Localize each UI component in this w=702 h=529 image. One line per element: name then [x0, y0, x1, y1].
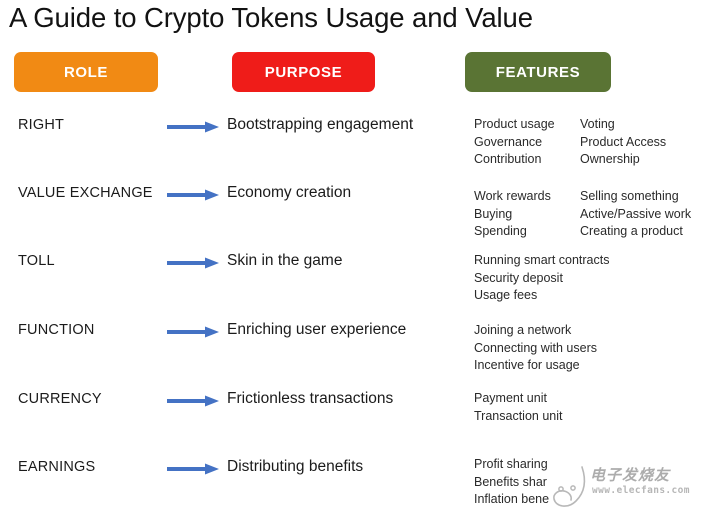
features-subcolumn: Product usage Governance Contribution [474, 116, 570, 169]
table-row: TOLL Skin in the game Running smart cont… [0, 253, 702, 323]
feature-item: Product usage [474, 116, 570, 134]
table-row: EARNINGS Distributing benefits Profit sh… [0, 459, 702, 529]
column-header-role: ROLE [14, 52, 158, 92]
feature-item: Payment unit [474, 390, 562, 408]
row-features-list: Running smart contracts Security deposit… [474, 252, 609, 305]
row-purpose-text: Frictionless transactions [227, 390, 393, 408]
feature-item: Transaction unit [474, 408, 562, 426]
features-subcolumn: Selling something Active/Passive work Cr… [580, 188, 691, 241]
feature-item: Governance [474, 134, 570, 152]
row-purpose-text: Distributing benefits [227, 458, 363, 476]
feature-item: Active/Passive work [580, 206, 691, 224]
features-subcolumn: Voting Product Access Ownership [580, 116, 666, 169]
feature-item: Selling something [580, 188, 691, 206]
features-subcolumn: Work rewards Buying Spending [474, 188, 570, 241]
arrow-right-icon [167, 188, 219, 202]
feature-item: Work rewards [474, 188, 570, 206]
features-subcolumn: Profit sharing Benefits shar Inflation b… [474, 456, 549, 509]
table-row: CURRENCY Frictionless transactions Payme… [0, 391, 702, 461]
row-purpose-text: Bootstrapping engagement [227, 116, 413, 134]
feature-item: Creating a product [580, 223, 691, 241]
feature-item: Ownership [580, 151, 666, 169]
feature-item: Joining a network [474, 322, 597, 340]
feature-item: Running smart contracts [474, 252, 609, 270]
row-features-list: Work rewards Buying Spending Selling som… [474, 188, 691, 241]
feature-item: Profit sharing [474, 456, 549, 474]
row-features-list: Payment unit Transaction unit [474, 390, 562, 425]
feature-item: Benefits shar [474, 474, 549, 492]
feature-item: Product Access [580, 134, 666, 152]
row-features-list: Profit sharing Benefits shar Inflation b… [474, 456, 549, 509]
feature-item: Usage fees [474, 287, 609, 305]
row-purpose-text: Enriching user experience [227, 321, 406, 339]
arrow-right-icon [167, 462, 219, 476]
features-subcolumn: Running smart contracts Security deposit… [474, 252, 609, 305]
column-header-features: FEATURES [465, 52, 611, 92]
arrow-right-icon [167, 325, 219, 339]
row-role-label: FUNCTION [18, 322, 95, 338]
features-subcolumn: Payment unit Transaction unit [474, 390, 562, 425]
row-purpose-text: Economy creation [227, 184, 351, 202]
row-role-label: EARNINGS [18, 459, 95, 475]
feature-item: Inflation bene [474, 491, 549, 509]
feature-item: Contribution [474, 151, 570, 169]
arrow-right-icon [167, 394, 219, 408]
table-row: VALUE EXCHANGE Economy creation Work rew… [0, 185, 702, 255]
feature-item: Connecting with users [474, 340, 597, 358]
row-purpose-text: Skin in the game [227, 252, 342, 270]
row-role-label: TOLL [18, 253, 55, 269]
feature-item: Voting [580, 116, 666, 134]
row-role-label: RIGHT [18, 117, 64, 133]
row-features-list: Product usage Governance Contribution Vo… [474, 116, 666, 169]
row-role-label: VALUE EXCHANGE [18, 185, 153, 201]
table-row: RIGHT Bootstrapping engagement Product u… [0, 117, 702, 187]
table-row: FUNCTION Enriching user experience Joini… [0, 322, 702, 392]
row-role-label: CURRENCY [18, 391, 102, 407]
feature-item: Security deposit [474, 270, 609, 288]
feature-item: Buying [474, 206, 570, 224]
feature-item: Incentive for usage [474, 357, 597, 375]
page-title: A Guide to Crypto Tokens Usage and Value [9, 2, 533, 34]
features-subcolumn: Joining a network Connecting with users … [474, 322, 597, 375]
feature-item: Spending [474, 223, 570, 241]
arrow-right-icon [167, 256, 219, 270]
column-header-purpose: PURPOSE [232, 52, 375, 92]
arrow-right-icon [167, 120, 219, 134]
row-features-list: Joining a network Connecting with users … [474, 322, 597, 375]
